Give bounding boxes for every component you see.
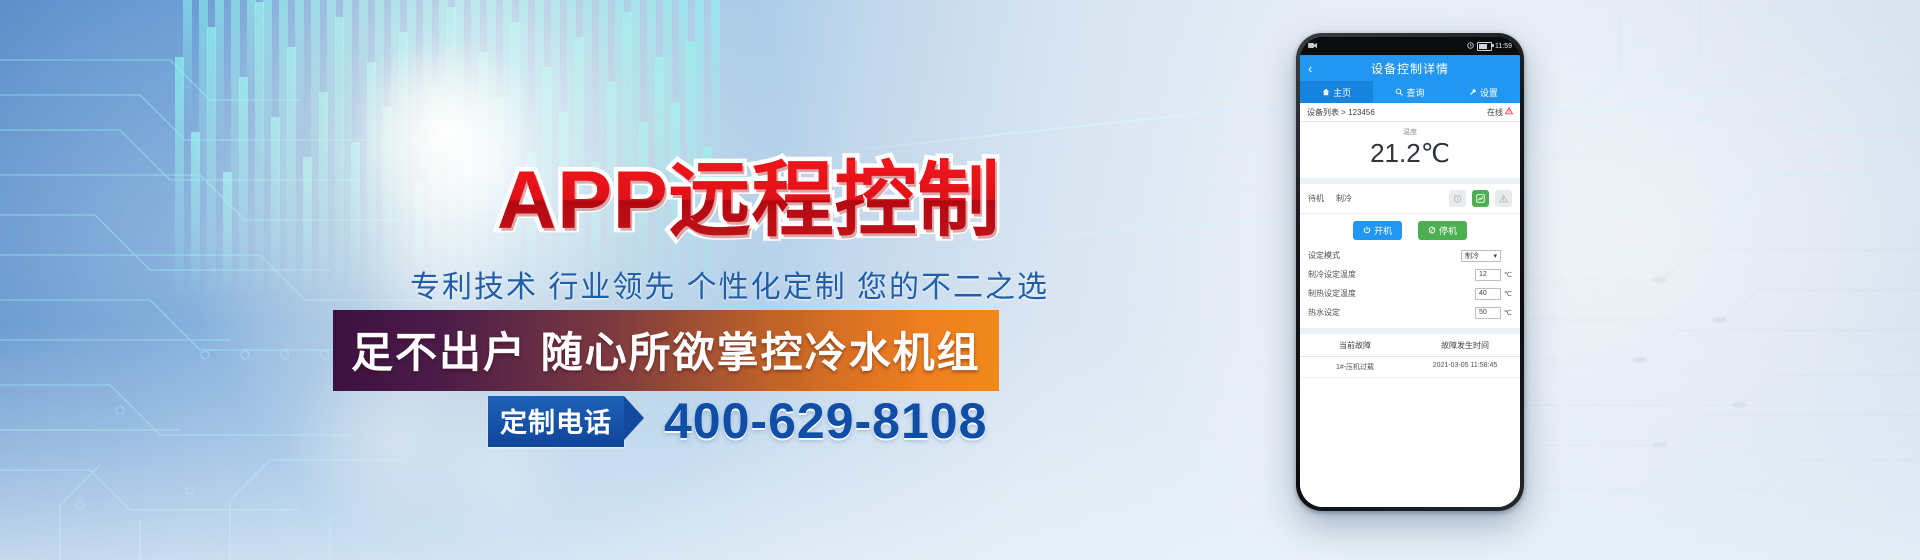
start-button[interactable]: 开机 [1353,221,1402,240]
poster-copy: APP远程控制 APP远程控制 专利技术 行业领先 个性化定制 您的不二之选 足… [0,0,1040,560]
warning-triangle-icon [1505,107,1513,117]
alarm-icon [1467,42,1474,51]
power-button-row: 开机 停机 [1300,214,1520,246]
status-bar-left [1308,42,1317,51]
promo-banner: APP远程控制 APP远程控制 专利技术 行业领先 个性化定制 您的不二之选 足… [0,0,1920,560]
home-icon [1322,88,1330,96]
search-icon [1395,88,1403,96]
mode-select-value: 制冷 [1465,251,1479,261]
power-icon [1363,226,1371,236]
battery-icon [1477,42,1492,51]
stop-button-label: 停机 [1439,224,1457,237]
start-button-label: 开机 [1374,224,1392,237]
chevron-down-icon: ▾ [1493,252,1497,260]
setting-label: 热水设定 [1308,307,1475,318]
page-title: APP远程控制 [497,160,1001,242]
chart-icon[interactable] [1472,190,1489,207]
device-mode: 制冷 [1336,193,1352,204]
stop-button[interactable]: 停机 [1418,221,1467,240]
setting-control: 制冷 ▾ [1461,250,1512,262]
tab-query-label: 查询 [1406,86,1424,99]
tab-bar: 主页 查询 设置 [1300,81,1520,103]
camera-icon [1308,42,1317,51]
fault-col-name: 当前故障 [1300,340,1410,351]
settings-row: 制热设定温度 40 ℃ [1308,284,1512,303]
settings-row: 热水设定 50 ℃ [1308,303,1512,322]
alert-icon[interactable] [1495,190,1512,207]
chevron-left-icon[interactable]: ‹ [1308,62,1312,75]
temperature-label: 温度 [1300,127,1520,137]
device-state: 待机 [1308,193,1324,204]
setting-label: 制热设定温度 [1308,288,1475,299]
status-bar-right: 11:59 [1467,42,1512,51]
tab-settings-label: 设置 [1480,86,1498,99]
hotwater-input[interactable]: 50 [1475,307,1501,319]
fault-time: 2021-03-05 11:58:45 [1410,362,1520,372]
fault-name: 1#-压机过载 [1300,362,1410,372]
phone-mockup: 11:59 ‹ 设备控制详情 主页 [1296,33,1524,511]
setting-control: 50 ℃ [1475,307,1512,319]
breadcrumb[interactable]: 设备列表 > 123456 在线 [1300,103,1520,122]
strapline-text: 足不出户 随心所欲掌控冷水机组 [351,329,981,376]
cooling-temp-input[interactable]: 12 [1475,269,1501,281]
wrench-icon [1469,88,1477,96]
breadcrumb-path: 设备列表 > 123456 [1307,107,1375,118]
mode-icon-group [1449,190,1512,207]
timer-icon[interactable] [1449,190,1466,207]
stop-icon [1428,226,1436,236]
tel-number[interactable]: 400-629-8108 [664,392,987,450]
strapline-bar: 足不出户 随心所欲掌控冷水机组 [333,310,999,391]
setting-unit: ℃ [1504,290,1512,298]
tab-query[interactable]: 查询 [1373,81,1446,103]
telephone-row: 定制电话 400-629-8108 [488,392,987,450]
tab-home[interactable]: 主页 [1300,81,1373,103]
tab-settings[interactable]: 设置 [1447,81,1520,103]
setting-control: 12 ℃ [1475,269,1512,281]
setting-label: 设定模式 [1308,250,1461,261]
tab-home-label: 主页 [1333,86,1351,99]
setting-control: 40 ℃ [1475,288,1512,300]
setting-unit: ℃ [1504,271,1512,279]
mode-select[interactable]: 制冷 ▾ [1461,250,1501,262]
status-bar-time: 11:59 [1495,43,1512,50]
status-badge-label: 在线 [1487,107,1503,118]
fault-table-header: 当前故障 故障发生时间 [1300,334,1520,357]
status-badge: 在线 [1487,107,1513,118]
fault-col-time: 故障发生时间 [1410,340,1520,351]
mode-row: 待机 制冷 [1300,184,1520,214]
temperature-card: 温度 21.2℃ [1300,122,1520,184]
settings-row: 设定模式 制冷 ▾ [1308,246,1512,265]
settings-row: 制冷设定温度 12 ℃ [1308,265,1512,284]
tel-tag: 定制电话 [488,396,624,447]
temperature-value: 21.2℃ [1300,138,1520,169]
table-row[interactable]: 1#-压机过载 2021-03-05 11:58:45 [1300,357,1520,378]
setting-label: 制冷设定温度 [1308,269,1475,280]
phone-screen-frame: 11:59 ‹ 设备控制详情 主页 [1300,37,1520,507]
app-title: 设备控制详情 [1300,60,1520,77]
status-bar: 11:59 [1300,37,1520,55]
setting-unit: ℃ [1504,309,1512,317]
app-navbar: ‹ 设备控制详情 [1300,55,1520,81]
app-screen: ‹ 设备控制详情 主页 查询 [1300,55,1520,507]
fault-table: 当前故障 故障发生时间 1#-压机过载 2021-03-05 11:58:45 [1300,328,1520,507]
heating-temp-input[interactable]: 40 [1475,288,1501,300]
subtitle: 专利技术 行业领先 个性化定制 您的不二之选 [410,262,1049,306]
settings-list: 设定模式 制冷 ▾ 制冷设定温度 12 ℃ [1300,246,1520,322]
